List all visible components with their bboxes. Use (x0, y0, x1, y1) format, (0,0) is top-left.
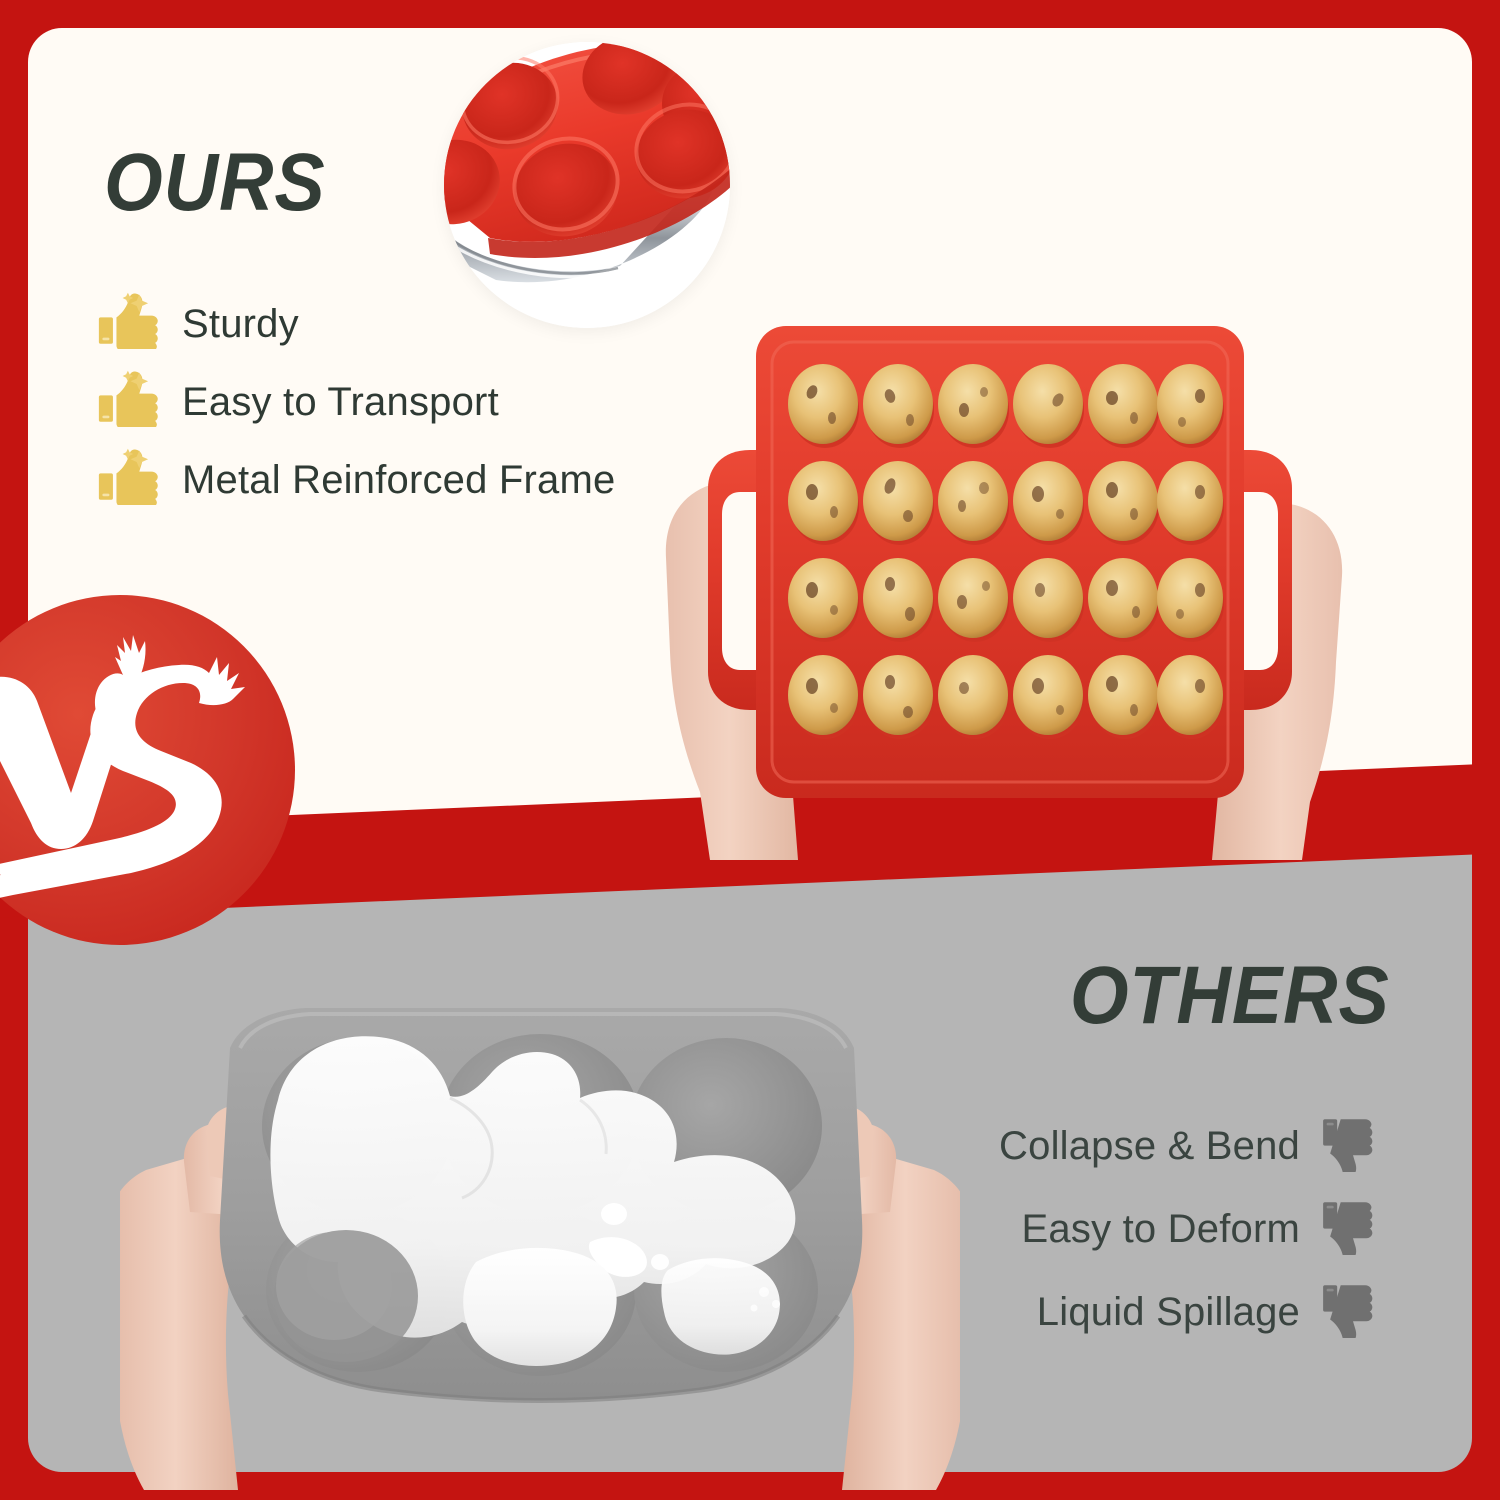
thumbs-up-sparkle-icon (96, 369, 164, 435)
ours-feature-label: Easy to Transport (182, 380, 499, 425)
ours-product-photo (560, 300, 1440, 860)
others-feature-label: Easy to Deform (1022, 1207, 1300, 1252)
ours-feature-item: Easy to Transport (96, 363, 615, 441)
thumbs-up-sparkle-icon (96, 291, 164, 357)
vs-brush-icon (0, 595, 295, 945)
others-feature-item: Collapse & Bend (999, 1105, 1390, 1188)
others-feature-label: Liquid Spillage (1037, 1290, 1300, 1335)
infographic-canvas: OURS OTHERS Sturdy (0, 0, 1500, 1500)
others-feature-label: Collapse & Bend (999, 1124, 1300, 1169)
muffin-tray (708, 326, 1292, 798)
others-title: OTHERS (1070, 955, 1390, 1037)
others-feature-item: Liquid Spillage (999, 1271, 1390, 1354)
ours-feature-list: Sturdy Easy to Transport (96, 285, 615, 519)
others-feature-list: Collapse & Bend Easy to Deform Liqui (999, 1105, 1390, 1354)
ours-feature-item: Sturdy (96, 285, 615, 363)
gray-silicone-mold (220, 1008, 863, 1401)
ours-feature-item: Metal Reinforced Frame (96, 441, 615, 519)
others-feature-item: Easy to Deform (999, 1188, 1390, 1271)
thumbs-down-icon (1322, 1114, 1390, 1180)
ours-title: OURS (104, 142, 326, 224)
ours-feature-label: Sturdy (182, 302, 299, 347)
others-product-photo (120, 990, 960, 1490)
vs-badge (0, 595, 295, 945)
thumbs-down-icon (1322, 1197, 1390, 1263)
thumbs-up-sparkle-icon (96, 447, 164, 513)
thumbs-down-icon (1322, 1280, 1390, 1346)
ours-feature-label: Metal Reinforced Frame (182, 458, 615, 503)
